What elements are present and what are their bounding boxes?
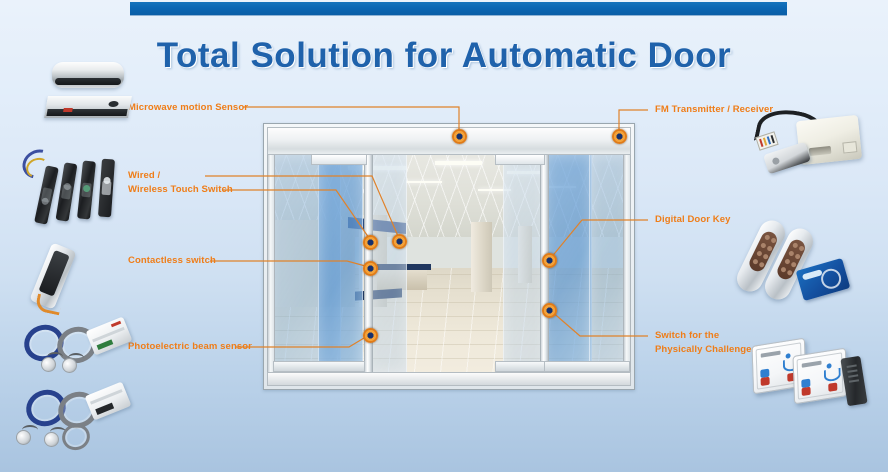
hotspot-touch-switch-a[interactable] xyxy=(363,235,378,250)
hotspot-fm-transmitter-receiver[interactable] xyxy=(612,129,627,144)
callout-label-touch-switch-line1[interactable]: Wired / xyxy=(128,170,160,182)
beam-mount-ring xyxy=(58,420,93,454)
hotspot-photoelectric-beam-sensor[interactable] xyxy=(363,328,378,343)
callout-label-digital-door-key[interactable]: Digital Door Key xyxy=(655,214,731,226)
callout-label-contactless-switch[interactable]: Contactless switch xyxy=(128,255,216,267)
callout-label-microwave-motion-sensor[interactable]: Microwave motion Sensor xyxy=(128,102,248,114)
hotspot-contactless-switch[interactable] xyxy=(363,261,378,276)
top-blue-bar xyxy=(130,2,787,16)
touch-switch-bar xyxy=(77,160,96,219)
beam-lens-bracket xyxy=(22,425,38,435)
door-header-housing xyxy=(267,127,631,155)
microwave-sensor-flat xyxy=(44,96,132,118)
glass xyxy=(318,154,363,373)
hotspot-switch-physically-challenged[interactable] xyxy=(542,303,557,318)
accessibility-control-module xyxy=(840,356,867,407)
door-jamb-right xyxy=(623,153,631,374)
callout-label-fm-transmitter-receiver[interactable]: FM Transmitter / Receiver xyxy=(655,104,773,116)
touch-switch-bar xyxy=(98,159,115,218)
pillar xyxy=(471,222,493,292)
touch-switch-bar xyxy=(56,162,78,221)
automatic-door-illustration xyxy=(263,123,635,390)
page-title: Total Solution for Automatic Door xyxy=(0,36,888,76)
sensor-lens xyxy=(108,101,119,107)
callout-label-touch-switch-line2[interactable]: Wireless Touch Switch xyxy=(128,184,233,196)
fm-side-tab xyxy=(842,141,857,153)
card-logo xyxy=(802,269,823,280)
led-indicator xyxy=(63,108,73,112)
wheelchair-icon xyxy=(824,362,838,380)
microwave-sensor-rounded xyxy=(52,62,124,88)
door-rail-top-left xyxy=(311,154,367,165)
beam-control-box xyxy=(85,381,132,420)
beam-lens-bracket xyxy=(47,352,63,362)
ceiling-light xyxy=(406,181,442,183)
card-emblem xyxy=(819,266,844,291)
accessibility-switch-plate xyxy=(792,348,847,405)
door-sill xyxy=(267,372,631,386)
door-rail-top-right xyxy=(495,154,545,165)
door-rail-bottom-far-right xyxy=(544,361,630,372)
hotspot-microwave-motion-sensor[interactable] xyxy=(452,129,467,144)
hotspot-touch-switch-b[interactable] xyxy=(392,234,407,249)
door-rail-bottom-right xyxy=(495,361,545,372)
door-panel-left-sliding xyxy=(318,154,363,373)
fm-connector-slot xyxy=(809,146,832,156)
hotspot-digital-door-key[interactable] xyxy=(542,253,557,268)
callout-label-physically-challenged-line2[interactable]: Physically Challenged xyxy=(655,344,757,356)
door-jamb-left xyxy=(267,153,275,374)
access-card xyxy=(796,258,851,301)
ceiling-light xyxy=(435,161,482,164)
callout-label-photoelectric-beam-sensor[interactable]: Photoelectric beam sensor xyxy=(128,341,252,353)
beam-lens-bracket xyxy=(68,353,84,363)
poster-stage: Total Solution for Automatic Door xyxy=(0,0,888,472)
door-panel-right-inner xyxy=(503,154,545,373)
callout-label-physically-challenged-line1[interactable]: Switch for the xyxy=(655,330,719,342)
door-rail-bottom-left xyxy=(273,361,365,372)
beam-control-box xyxy=(86,316,133,355)
glass xyxy=(503,154,545,373)
